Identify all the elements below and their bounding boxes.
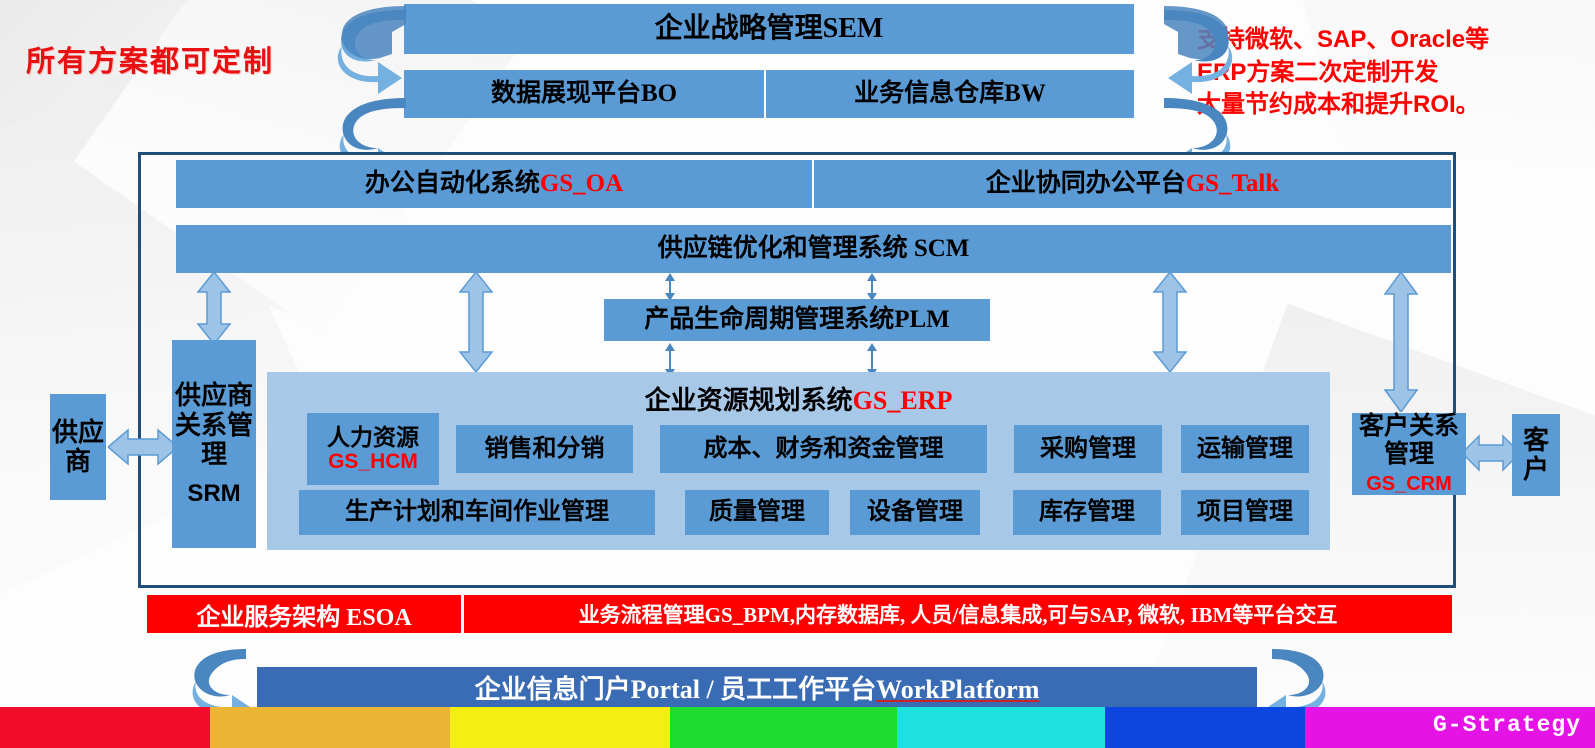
caption-right-l3b: ROI: [1413, 91, 1456, 118]
caption-right-l3c: 。: [1456, 92, 1480, 118]
portal-label-workplatform: WorkPlatform: [876, 675, 1039, 704]
caption-right-l1d: Oracle: [1390, 26, 1465, 53]
module-quality[interactable]: 质量管理: [685, 490, 829, 535]
box-customer[interactable]: 客户: [1512, 414, 1560, 496]
esoa-bar: 企业服务架构 ESOA 业务流程管理GS_BPM,内存数据库, 人员/信息集成,…: [147, 595, 1452, 633]
footer-brand: G-Strategy: [1433, 712, 1581, 738]
strip-band-3: [670, 707, 897, 748]
module-project[interactable]: 项目管理: [1181, 490, 1309, 535]
esoa-title[interactable]: 企业服务架构 ESOA: [147, 595, 464, 633]
box-sem[interactable]: 企业战略管理SEM: [404, 4, 1134, 54]
crm-label-abbr: GS_CRM: [1366, 473, 1452, 495]
box-bo[interactable]: 数据展现平台BO: [404, 70, 764, 118]
srm-label-cn: 供应商关系管理: [172, 381, 256, 470]
module-cost-finance-fund[interactable]: 成本、财务和资金管理: [660, 425, 987, 473]
module-equipment[interactable]: 设备管理: [850, 490, 980, 535]
portal-label-prefix: 企业信息门户Portal / 员工工作平台: [475, 675, 877, 704]
erp-title-code: GS_ERP: [853, 386, 953, 415]
double-arrow-scm-erp-right: [1152, 272, 1188, 372]
double-arrow-scm-srm: [196, 272, 232, 344]
module-transportation[interactable]: 运输管理: [1181, 425, 1309, 473]
module-hr-label: 人力资源: [327, 425, 419, 450]
module-hr-code: GS_HCM: [328, 450, 418, 473]
strip-band-1: [210, 707, 450, 748]
box-oa[interactable]: 办公自动化系统 GS_OA: [176, 160, 812, 208]
strip-band-2: [450, 707, 670, 748]
strip-band-5: [1105, 707, 1305, 748]
arrow-scm-plm-right: [862, 273, 882, 301]
srm-label-abbr: SRM: [187, 480, 240, 507]
double-arrow-scm-erp-left: [458, 272, 494, 372]
module-hr[interactable]: 人力资源 GS_HCM: [307, 413, 439, 485]
double-arrow-scm-crm: [1383, 272, 1419, 412]
module-inventory[interactable]: 库存管理: [1013, 490, 1161, 535]
erp-title-cn: 企业资源规划系统: [645, 386, 853, 415]
spiral-arrow-portal-right: [1248, 643, 1328, 713]
talk-label-code: GS_Talk: [1186, 170, 1280, 198]
box-gs-talk[interactable]: 企业协同办公平台GS_Talk: [814, 160, 1451, 208]
box-crm[interactable]: 客户关系管理 GS_CRM: [1352, 413, 1466, 495]
module-production-planning[interactable]: 生产计划和车间作业管理: [299, 490, 655, 535]
esoa-detail[interactable]: 业务流程管理GS_BPM,内存数据库, 人员/信息集成,可与SAP, 微软, I…: [464, 595, 1452, 633]
caption-right-l1e: 等: [1465, 27, 1489, 53]
strip-band-4: [897, 707, 1105, 748]
caption-erp-support: 支持微软、SAP、Oracle等 ERP方案二次定制开发 大量节约成本和提升RO…: [1197, 24, 1595, 122]
spiral-arrow-right: [1124, 2, 1234, 152]
caption-right-l1b: SAP: [1317, 26, 1366, 53]
caption-right-l2b: 方案二次定制开发: [1246, 60, 1438, 86]
module-procurement[interactable]: 采购管理: [1014, 425, 1162, 473]
box-supplier[interactable]: 供应商: [50, 394, 106, 500]
module-sales-distribution[interactable]: 销售和分销: [456, 425, 633, 473]
erp-title: 企业资源规划系统GS_ERP: [267, 380, 1330, 417]
footer-color-strip: [0, 707, 1595, 748]
oa-label-cn: 办公自动化系统: [365, 170, 540, 198]
box-plm[interactable]: 产品生命周期管理系统PLM: [604, 299, 990, 341]
double-arrow-supplier-srm: [108, 428, 178, 466]
box-scm[interactable]: 供应链优化和管理系统 SCM: [176, 225, 1451, 273]
arrow-scm-plm-left: [660, 273, 680, 301]
crm-label-cn: 客户关系管理: [1352, 413, 1466, 469]
box-bw[interactable]: 业务信息仓库BW: [766, 70, 1134, 118]
caption-right-l1c: 、: [1366, 27, 1390, 53]
talk-label-cn: 企业协同办公平台: [986, 170, 1186, 198]
caption-all-customizable: 所有方案都可定制: [0, 38, 300, 80]
spiral-arrow-left: [336, 2, 446, 152]
box-srm[interactable]: 供应商关系管理 SRM: [172, 340, 256, 548]
strip-band-0: [0, 707, 210, 748]
oa-label-code: GS_OA: [540, 170, 623, 198]
